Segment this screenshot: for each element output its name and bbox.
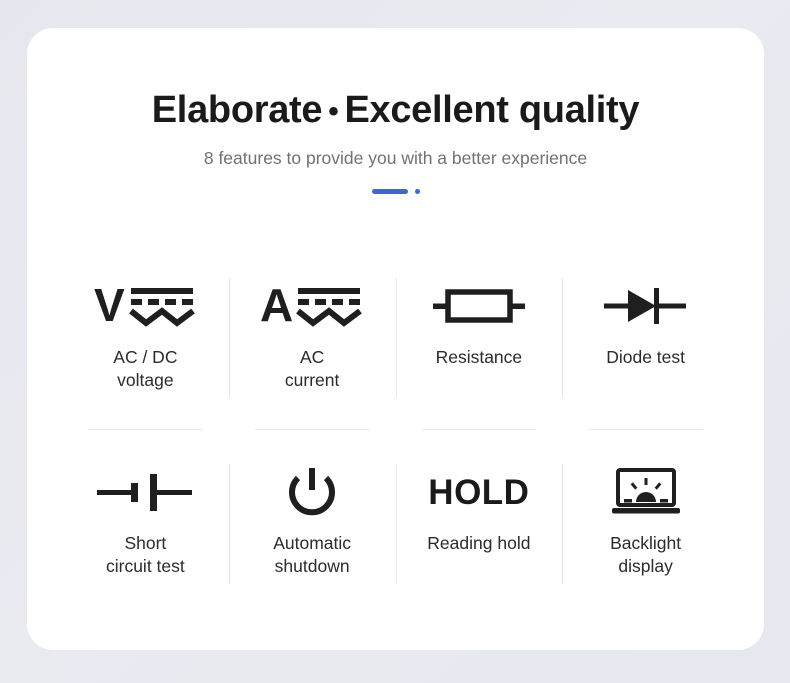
hold-label: HOLD bbox=[428, 475, 529, 510]
feature-label: Short circuit test bbox=[106, 532, 185, 578]
feature-label: Diode test bbox=[606, 346, 685, 369]
feature-label-line1: AC / DC bbox=[113, 347, 177, 367]
feature-label-line2: voltage bbox=[113, 369, 177, 392]
hold-text-icon: HOLD bbox=[428, 456, 529, 528]
feature-item-automatic-shutdown: Automatic shutdown bbox=[229, 442, 396, 628]
feature-item-ac-dc-voltage: V AC / DC voltage bbox=[62, 256, 229, 442]
accent-dot bbox=[415, 189, 420, 194]
feature-label: AC current bbox=[285, 346, 339, 392]
feature-item-reading-hold: HOLD Reading hold bbox=[396, 442, 563, 628]
feature-label-line2: shutdown bbox=[273, 555, 351, 578]
feature-label: AC / DC voltage bbox=[113, 346, 177, 392]
feature-label-line2: current bbox=[285, 369, 339, 392]
page-background: Elaborate•Excellent quality 8 features t… bbox=[0, 0, 790, 683]
title-left: Elaborate bbox=[152, 89, 322, 131]
feature-item-ac-current: A AC current bbox=[229, 256, 396, 442]
feature-label-line1: Backlight bbox=[610, 533, 681, 553]
ac-dc-voltage-icon: V bbox=[93, 270, 197, 342]
open-contact-icon bbox=[93, 456, 197, 528]
feature-label: Resistance bbox=[436, 346, 523, 369]
page-title: Elaborate•Excellent quality bbox=[27, 90, 764, 132]
feature-label-line1: Short bbox=[124, 533, 166, 553]
page-subtitle: 8 features to provide you with a better … bbox=[27, 148, 764, 169]
feature-label-line2: circuit test bbox=[106, 555, 185, 578]
feature-item-backlight-display: Backlight display bbox=[562, 442, 729, 628]
title-right: Excellent quality bbox=[344, 89, 639, 131]
feature-item-diode-test: Diode test bbox=[562, 256, 729, 442]
power-icon bbox=[260, 456, 364, 528]
title-separator-dot: • bbox=[322, 95, 344, 128]
feature-item-resistance: Resistance bbox=[396, 256, 563, 442]
features-grid: V AC / DC voltage bbox=[62, 256, 729, 628]
svg-text:A: A bbox=[260, 280, 293, 331]
feature-label: Reading hold bbox=[427, 532, 530, 555]
feature-label-line1: Diode test bbox=[606, 347, 685, 367]
feature-label-line1: Automatic bbox=[273, 533, 351, 553]
card-header: Elaborate•Excellent quality 8 features t… bbox=[27, 28, 764, 196]
feature-label-line1: AC bbox=[300, 347, 324, 367]
accent-bar bbox=[372, 189, 408, 194]
accent-divider bbox=[367, 188, 425, 196]
feature-label: Automatic shutdown bbox=[273, 532, 351, 578]
ac-current-icon: A bbox=[260, 270, 364, 342]
feature-item-short-circuit-test: Short circuit test bbox=[62, 442, 229, 628]
diode-icon bbox=[594, 270, 698, 342]
svg-text:V: V bbox=[94, 280, 125, 331]
feature-label-line1: Resistance bbox=[436, 347, 523, 367]
feature-label-line2: display bbox=[610, 555, 681, 578]
resistor-icon bbox=[427, 270, 531, 342]
backlight-display-icon bbox=[594, 456, 698, 528]
feature-card: Elaborate•Excellent quality 8 features t… bbox=[27, 28, 764, 650]
feature-label-line1: Reading hold bbox=[427, 533, 530, 553]
feature-label: Backlight display bbox=[610, 532, 681, 578]
